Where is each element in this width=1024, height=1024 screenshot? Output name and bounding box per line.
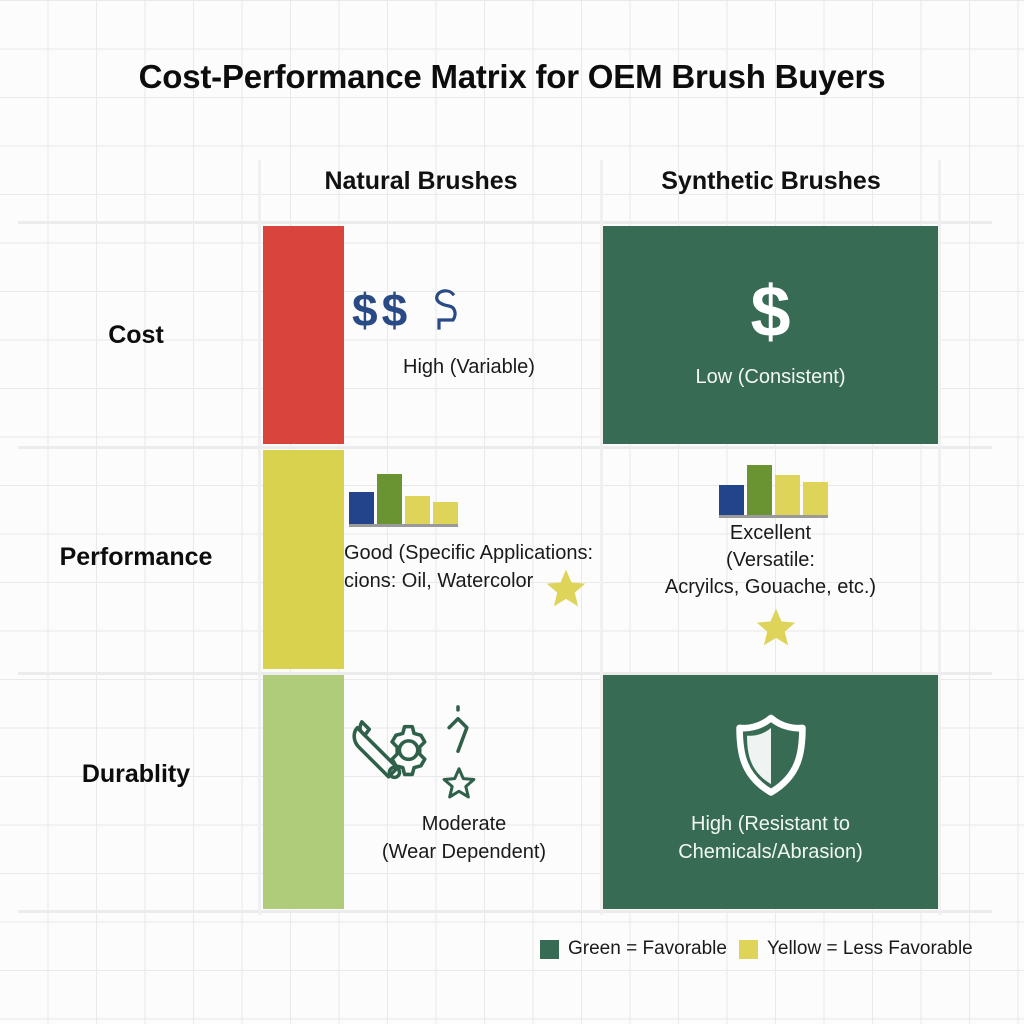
sparkle-icon xyxy=(437,704,479,771)
minibar xyxy=(349,492,374,524)
performance-natural-label-line1: Good (Specific Applications: xyxy=(344,542,624,565)
performance-synthetic-line3: Acryilcs, Gouache, etc.) xyxy=(603,574,938,601)
cell-performance-synthetic: Excellent (Versatile: Acryilcs, Gouache,… xyxy=(603,450,938,669)
minibar xyxy=(747,465,772,515)
cost-natural-label: High (Variable) xyxy=(344,356,594,379)
cost-synthetic-label: Low (Consistent) xyxy=(603,366,938,389)
cost-natural-icons: $ $ xyxy=(352,284,461,336)
legend-item-yellow: Yellow = Less Favorable xyxy=(739,938,973,960)
performance-synthetic-label: Excellent (Versatile: Acryilcs, Gouache,… xyxy=(603,520,938,601)
minibar xyxy=(405,496,430,524)
cell-cost-natural: $ $ High (Variable) xyxy=(344,226,600,444)
durability-natural-line2: (Wear Dependent) xyxy=(336,838,592,866)
star-icon xyxy=(544,566,588,615)
matrix-canvas: Cost-Performance Matrix for OEM Brush Bu… xyxy=(0,0,1024,1024)
durability-synthetic-label: High (Resistant to Chemicals/Abrasion) xyxy=(603,810,938,866)
status-bar-performance-yellow xyxy=(263,450,344,669)
row-divider-top xyxy=(18,221,992,224)
durability-synthetic-line1: High (Resistant to xyxy=(603,810,938,838)
legend: Green = Favorable Yellow = Less Favorabl… xyxy=(540,938,973,960)
shield-icon xyxy=(603,713,938,804)
durability-synthetic-line2: Chemicals/Abrasion) xyxy=(603,838,938,866)
legend-swatch-green xyxy=(540,940,559,959)
minibar xyxy=(719,485,744,515)
cell-cost-synthetic: $ Low (Consistent) xyxy=(603,226,938,444)
performance-synthetic-line2: (Versatile: xyxy=(603,547,938,574)
status-bar-durability-green xyxy=(263,675,344,909)
performance-synthetic-line1: Excellent xyxy=(603,520,938,547)
dollar-icon-partial xyxy=(429,284,461,336)
legend-label-green: Green = Favorable xyxy=(568,938,727,960)
row-label-performance: Performance xyxy=(20,543,252,572)
durability-natural-label: Moderate (Wear Dependent) xyxy=(336,810,592,866)
minibar xyxy=(377,474,402,524)
cell-durability-synthetic: High (Resistant to Chemicals/Abrasion) xyxy=(603,675,938,909)
minibar xyxy=(803,482,828,515)
column-header-natural: Natural Brushes xyxy=(262,167,580,196)
cell-durability-natural: Moderate (Wear Dependent) xyxy=(344,675,600,909)
dollar-icon: $ xyxy=(603,276,938,348)
durability-natural-icons xyxy=(344,710,574,810)
column-divider-left xyxy=(258,160,261,915)
minibar xyxy=(775,475,800,515)
status-bar-cost-red xyxy=(263,226,344,444)
cell-performance-natural: Good (Specific Applications: cions: Oil,… xyxy=(344,450,624,669)
bar-chart-icon xyxy=(719,465,828,518)
row-divider-cost-performance xyxy=(18,446,992,449)
row-label-cost: Cost xyxy=(20,321,252,350)
star-outline-icon xyxy=(440,764,478,807)
wrench-gear-icon xyxy=(344,710,439,810)
legend-label-yellow: Yellow = Less Favorable xyxy=(767,938,973,960)
page-title: Cost-Performance Matrix for OEM Brush Bu… xyxy=(0,58,1024,96)
dollar-icon: $ xyxy=(382,287,408,333)
durability-natural-line1: Moderate xyxy=(336,810,592,838)
column-divider-right xyxy=(938,160,941,915)
legend-item-green: Green = Favorable xyxy=(540,938,727,960)
legend-swatch-yellow xyxy=(739,940,758,959)
star-icon xyxy=(754,605,798,654)
bar-chart-icon xyxy=(349,474,458,527)
dollar-icon: $ xyxy=(352,287,378,333)
row-label-durability: Durablity xyxy=(20,760,252,789)
row-divider-bottom xyxy=(18,910,992,913)
column-header-synthetic: Synthetic Brushes xyxy=(603,167,939,196)
minibar xyxy=(433,502,458,524)
